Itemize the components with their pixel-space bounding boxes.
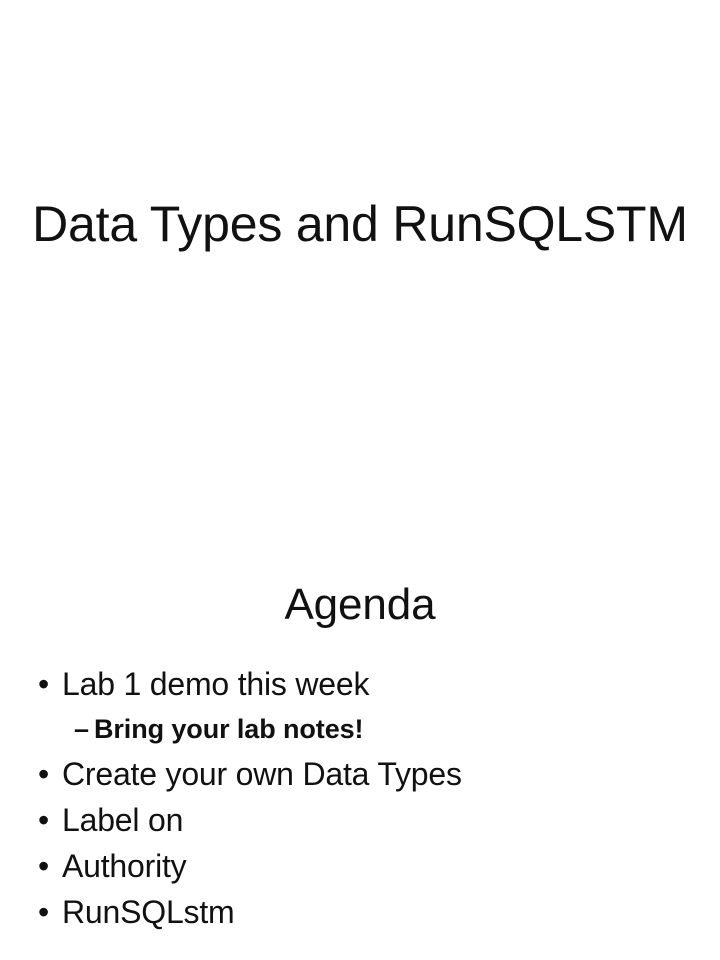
list-item-label: Authority xyxy=(62,846,186,886)
bullet-marker-icon: • xyxy=(38,846,62,886)
list-item-label: Lab 1 demo this week xyxy=(62,664,369,704)
list-item-label: Create your own Data Types xyxy=(62,754,462,794)
list-item-label: Label on xyxy=(62,800,183,840)
slide-page: Data Types and RunSQLSTM Agenda • Lab 1 … xyxy=(0,0,720,960)
agenda-heading: Agenda xyxy=(0,580,720,630)
dash-marker-icon: – xyxy=(74,710,94,748)
bullet-marker-icon: • xyxy=(38,664,62,704)
agenda-list: • Lab 1 demo this week – Bring your lab … xyxy=(0,664,720,938)
bullet-marker-icon: • xyxy=(38,754,62,794)
bullet-marker-icon: • xyxy=(38,800,62,840)
list-item: • Lab 1 demo this week xyxy=(0,664,720,710)
list-item: • Label on xyxy=(0,800,720,846)
list-item-label: RunSQLstm xyxy=(62,892,234,932)
list-item: • RunSQLstm xyxy=(0,892,720,938)
list-item: • Create your own Data Types xyxy=(0,754,720,800)
list-item: • Authority xyxy=(0,846,720,892)
sub-list-item-label: Bring your lab notes! xyxy=(94,710,363,748)
slide-title: Data Types and RunSQLSTM xyxy=(0,196,720,252)
bullet-marker-icon: • xyxy=(38,892,62,932)
sub-list-item: – Bring your lab notes! xyxy=(0,710,720,754)
